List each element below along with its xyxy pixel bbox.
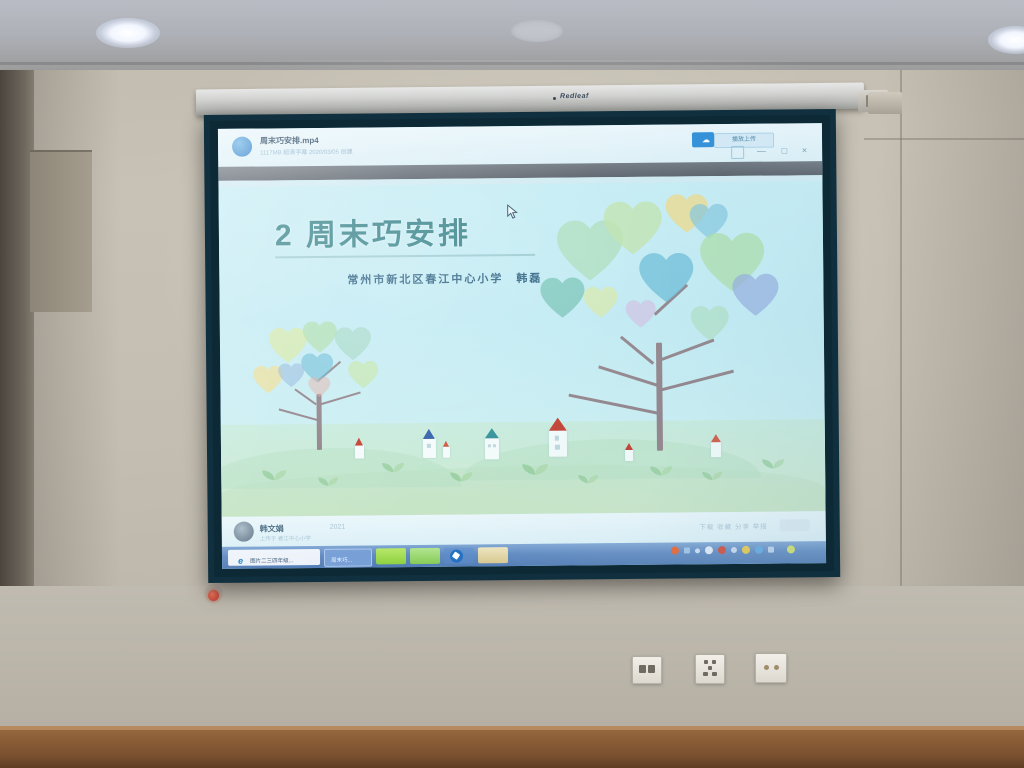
bell-icon[interactable] [705,546,713,554]
ie-icon: e [238,556,243,566]
av-outlet-plate[interactable] [755,653,787,683]
wainscot [0,586,1024,728]
sogou-icon[interactable] [671,547,679,555]
player-icon [450,550,463,563]
left-wall-panel [30,150,92,312]
ceiling-downlight-left [96,18,160,48]
minimize-button[interactable]: — [757,146,766,156]
cloud-icon[interactable] [755,546,763,554]
player-app-icon [232,137,252,157]
player-file-name: 周末巧安排.mp4 [260,135,319,147]
ceiling-fixture-center [511,20,563,42]
wall-seam-4 [900,70,902,586]
network-icon[interactable] [684,547,690,553]
taskbar-active-label: 周末巧... [331,556,352,564]
projection-screen-frame: 周末巧安排.mp4 1117MB 超清字幕 2020/03/05 创建 ☁ 播放… [204,109,840,583]
wall-seam-upper-right [864,138,1024,140]
wall-device-vent [868,92,902,114]
system-tray[interactable] [671,545,822,554]
brand-dot [553,97,556,100]
chrome-icon[interactable] [742,546,750,554]
user-avatar[interactable] [234,522,254,542]
folder-icon[interactable] [478,547,508,563]
taskbar-item-active-window[interactable]: 周末巧... [324,548,372,566]
wood-baseboard-highlight [0,726,1024,730]
arrow-icon[interactable] [731,547,737,553]
indicator-light [208,590,219,601]
uploader-name: 韩文娟 [260,523,284,534]
leaf-heart [624,299,658,329]
slide-title-rule [275,254,535,258]
leaf-heart [581,285,619,319]
slide-title: 2 周末巧安排 [275,208,471,254]
illustration-tree-left [250,319,411,451]
monitor-icon[interactable] [768,547,774,553]
projected-desktop: 周末巧安排.mp4 1117MB 超清字幕 2020/03/05 创建 ☁ 播放… [218,123,826,569]
wps-doc-icon[interactable] [376,548,406,564]
uploader-sub: 上传于 春江中心小学 [260,534,311,542]
windows-taskbar: e 图片二三四年级... 周末巧... [222,541,826,569]
projector-brand-label: Redleaf [560,93,589,100]
wps-ppt-icon[interactable] [410,548,440,564]
leaf-heart [729,272,781,318]
flag-icon[interactable] [787,545,795,553]
leaf-heart [599,199,668,258]
volume-icon[interactable] [695,548,700,553]
player-file-meta: 1117MB 超清字幕 2020/03/05 创建 [260,147,353,157]
video-action-pill[interactable] [780,519,810,531]
taskbar-item-internet-explorer[interactable]: e 图片二三四年级... [228,549,320,566]
leaf-heart [688,304,732,342]
slide-subtitle: 常州市新北区春江中心小学 韩磊 [347,270,542,288]
network-jack-plate[interactable] [632,656,662,684]
cloud-glyph: ☁ [702,135,710,144]
leaf-heart [635,250,698,305]
leaf-heart [537,275,587,319]
projection-screen-inner: 周末巧安排.mp4 1117MB 超清字幕 2020/03/05 创建 ☁ 播放… [210,115,834,577]
video-actions[interactable]: 下载 收藏 分享 举报 [699,521,768,532]
wood-baseboard [0,726,1024,768]
shield-icon[interactable] [718,546,726,554]
slide-canvas: 2 周末巧安排 常州市新北区春江中心小学 韩磊 [218,181,825,517]
upload-date: 2021 [330,524,346,531]
taskbar-ie-label: 图片二三四年级... [250,556,293,564]
player-window-titlebar: 周末巧安排.mp4 1117MB 超清字幕 2020/03/05 创建 ☁ 播放… [218,123,822,167]
classroom-scene: Redleaf 周末巧安排.mp4 1117MB 超清字幕 2020/03/05… [0,0,1024,768]
illustration-tree-right [537,191,789,443]
maximize-button[interactable]: □ [782,145,788,155]
close-button[interactable]: × [802,145,807,155]
power-socket-plate[interactable] [695,654,725,684]
document-icon[interactable] [731,146,744,159]
